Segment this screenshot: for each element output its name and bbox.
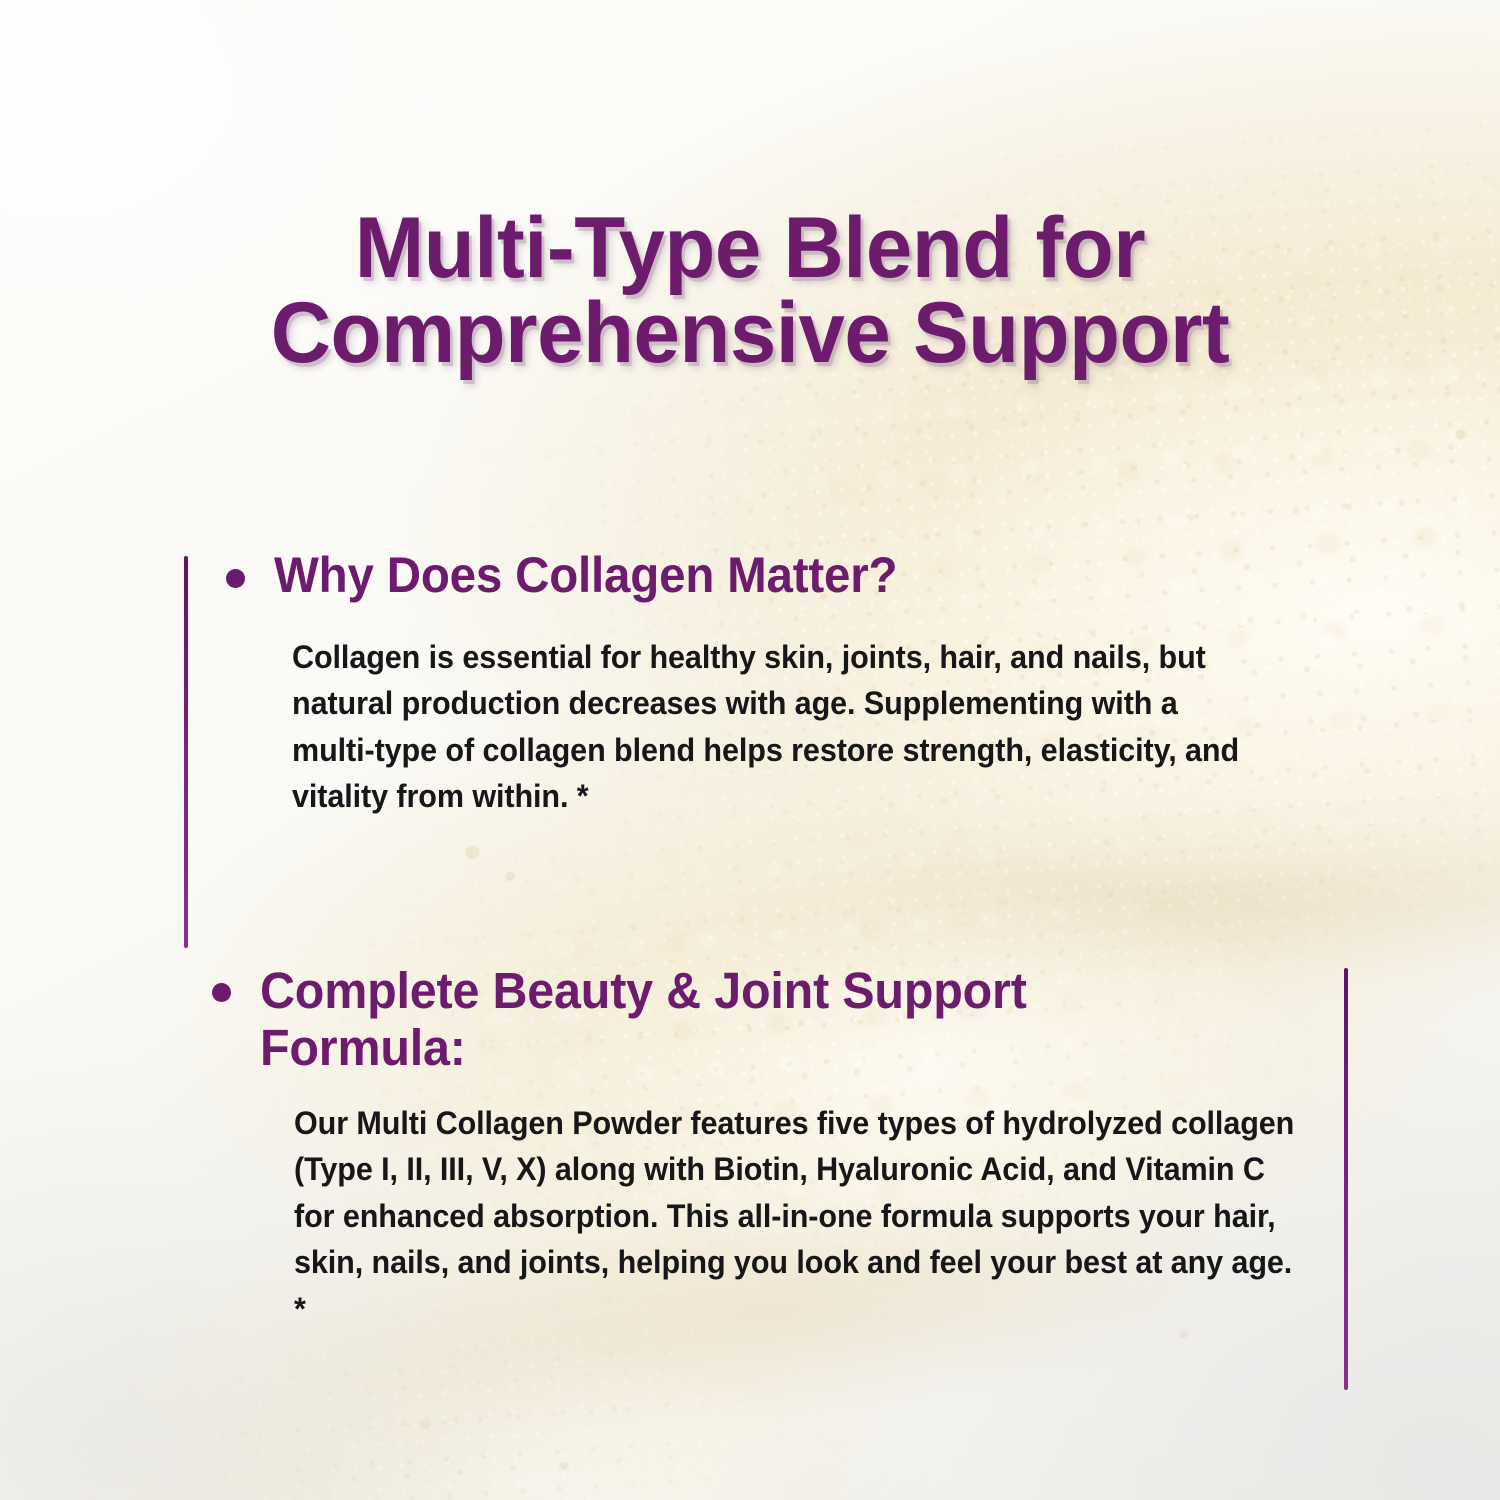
section-heading-row: Complete Beauty & Joint Support Formula: <box>212 962 1312 1076</box>
content-layer: Multi-Type Blend for Comprehensive Suppo… <box>0 0 1500 1500</box>
title-line-1: Multi-Type Blend for <box>90 206 1409 291</box>
section-2-body: Our Multi Collagen Powder features five … <box>294 1100 1305 1332</box>
bullet-point-icon <box>212 983 231 1002</box>
bullet-point-icon <box>226 569 245 588</box>
page-title: Multi-Type Blend for Comprehensive Suppo… <box>0 206 1500 376</box>
title-line-2: Comprehensive Support <box>90 291 1409 376</box>
accent-rule-left <box>184 556 188 948</box>
section-2-heading: Complete Beauty & Joint Support Formula: <box>260 962 1191 1076</box>
section-1-heading: Why Does Collagen Matter? <box>274 548 897 603</box>
section-1-body: Collagen is essential for healthy skin, … <box>292 634 1265 820</box>
product-infographic: Multi-Type Blend for Comprehensive Suppo… <box>0 0 1500 1500</box>
section-beauty-joint-formula: Complete Beauty & Joint Support Formula:… <box>212 962 1312 1076</box>
section-why-collagen-matters: Why Does Collagen Matter? Collagen is es… <box>226 548 1266 603</box>
section-heading-row: Why Does Collagen Matter? <box>226 548 1266 603</box>
accent-rule-right <box>1344 968 1348 1390</box>
